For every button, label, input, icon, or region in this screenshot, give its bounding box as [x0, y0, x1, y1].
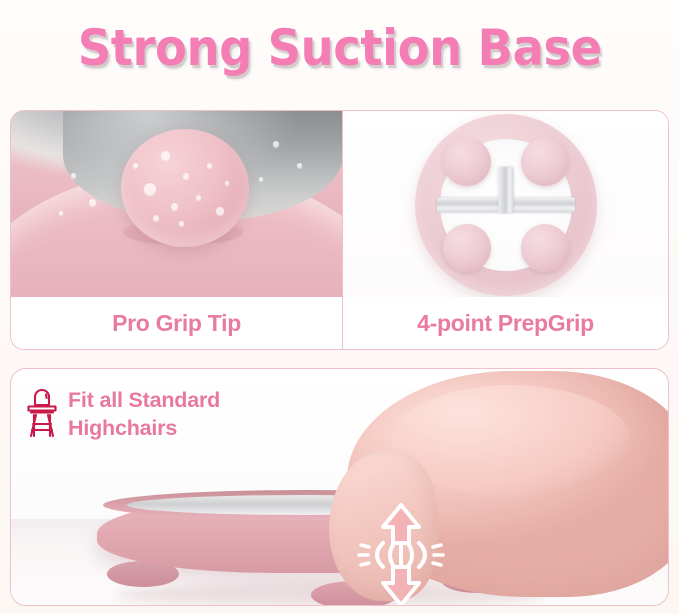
cross-bar-vertical [498, 167, 513, 213]
feature-highchair-fit: Fit all Standard Highchairs [25, 387, 220, 442]
suction-pad [443, 224, 491, 272]
suction-pad [521, 138, 569, 186]
infographic-page: Strong Suction Base [0, 0, 679, 614]
panel-highchair-fit: Fit all Standard Highchairs [10, 368, 669, 606]
water-droplets [11, 111, 342, 299]
page-title-bar: Strong Suction Base [0, 0, 679, 96]
highchair-icon [25, 389, 59, 439]
suction-arrows-icon [353, 503, 449, 606]
caption-pro-grip-tip: Pro Grip Tip [11, 297, 342, 349]
feature-highchair-label: Fit all Standard Highchairs [68, 387, 220, 442]
photo-four-point-prepgrip [343, 111, 668, 299]
photo-pro-grip-tip [11, 111, 342, 299]
panel-prepgrip: 4-point PrepGrip [342, 110, 669, 350]
panel-pro-grip-tip: Pro Grip Tip [10, 110, 342, 350]
bowl-base-disc [415, 114, 597, 296]
caption-four-point-prepgrip: 4-point PrepGrip [343, 297, 668, 349]
suction-pad [443, 138, 491, 186]
suction-pad [521, 224, 569, 272]
page-title: Strong Suction Base [78, 19, 602, 77]
top-panel-row: Pro Grip Tip 4-point PrepGrip [10, 110, 669, 350]
